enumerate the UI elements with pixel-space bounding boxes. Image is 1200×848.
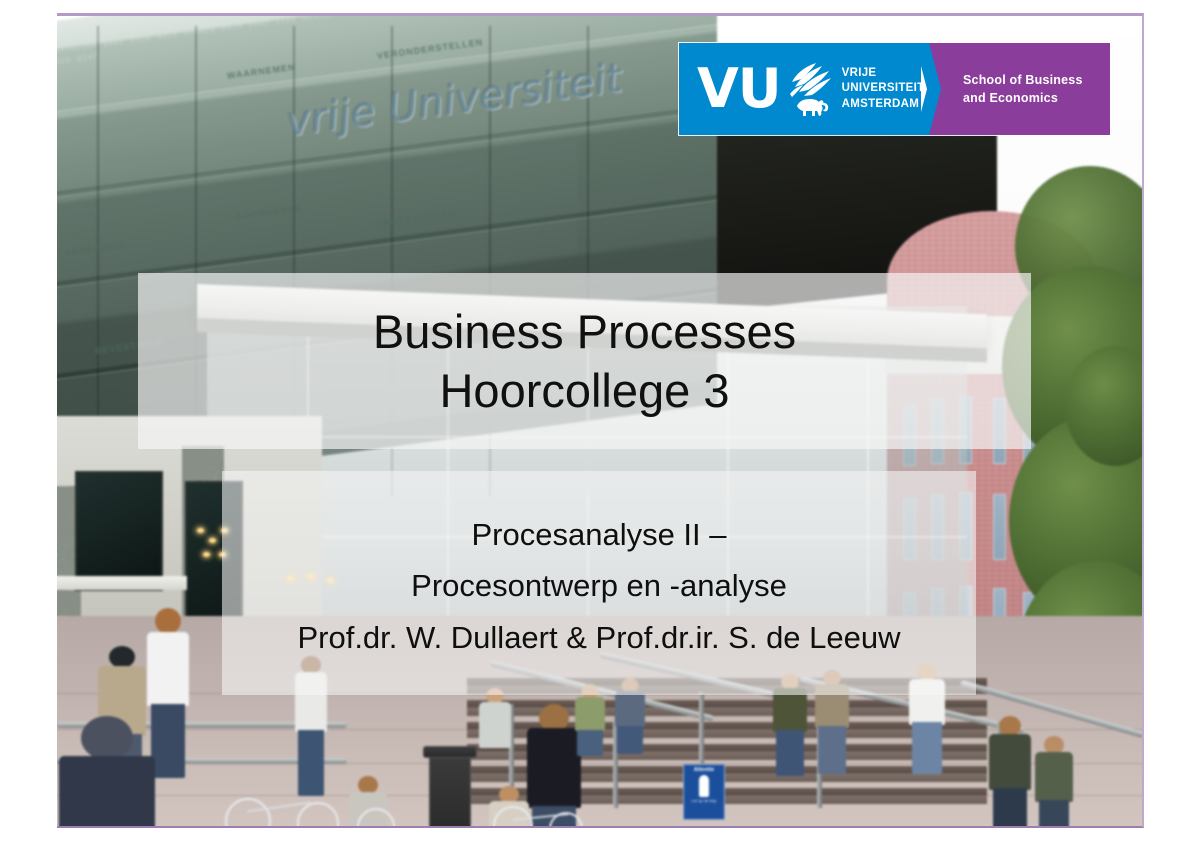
slide-title-line-1: Business Processes	[373, 303, 796, 360]
faculty-panel: School of Business and Economics	[929, 43, 1110, 135]
faculty-name: School of Business and Economics	[963, 71, 1083, 107]
slide-title-line-2: Hoorcollege 3	[439, 362, 729, 419]
pedestrian-icon	[699, 775, 709, 797]
subtitle-band: Procesanalyse II – Procesontwerp en -ana…	[222, 471, 976, 695]
chevron-right-icon	[915, 43, 941, 135]
attentie-sign-body: Let op de trap	[684, 799, 724, 803]
person	[987, 716, 1033, 828]
winged-lion-griffin-icon	[786, 60, 832, 120]
slide-subtitle-line-2: Procesontwerp en -analyse	[411, 567, 787, 604]
vu-brand-panel: VU	[679, 43, 921, 135]
slide-subtitle-line-1: Procesanalyse II –	[471, 516, 726, 553]
ceiling-lamp	[209, 538, 216, 543]
ceiling-lamp	[197, 528, 204, 533]
vu-wordmark: VU	[697, 62, 781, 116]
background-photo: 10 29 VERBINDEN 0281 WAARNEMEN 3104 02 V…	[57, 13, 1144, 828]
university-name-line-2: UNIVERSITEIT	[842, 82, 925, 94]
building-window	[75, 471, 163, 591]
trash-bin	[429, 756, 471, 828]
trash-bin-lid	[423, 746, 477, 758]
university-name-line-3: AMSTERDAM	[842, 98, 919, 110]
university-name: VRIJE UNIVERSITEIT AMSTERDAM	[842, 66, 925, 113]
faculty-name-line-2: and Economics	[963, 91, 1058, 105]
person	[477, 688, 513, 748]
title-band: Business Processes Hoorcollege 3	[138, 273, 1031, 449]
attentie-sign: Attentie Let op de trap	[683, 764, 725, 820]
slide-subtitle-line-3: Prof.dr. W. Dullaert & Prof.dr.ir. S. de…	[297, 619, 900, 656]
building-ledge	[57, 576, 187, 590]
person	[57, 716, 157, 828]
person	[1033, 736, 1075, 828]
vu-logo-block: VU	[679, 43, 1110, 135]
ceiling-lamp	[203, 552, 210, 557]
university-name-line-1: VRIJE	[842, 67, 877, 79]
faculty-name-line-1: School of Business	[963, 73, 1083, 87]
attentie-sign-title: Attentie	[684, 767, 724, 773]
slide-canvas: 10 29 VERBINDEN 0281 WAARNEMEN 3104 02 V…	[0, 0, 1200, 848]
